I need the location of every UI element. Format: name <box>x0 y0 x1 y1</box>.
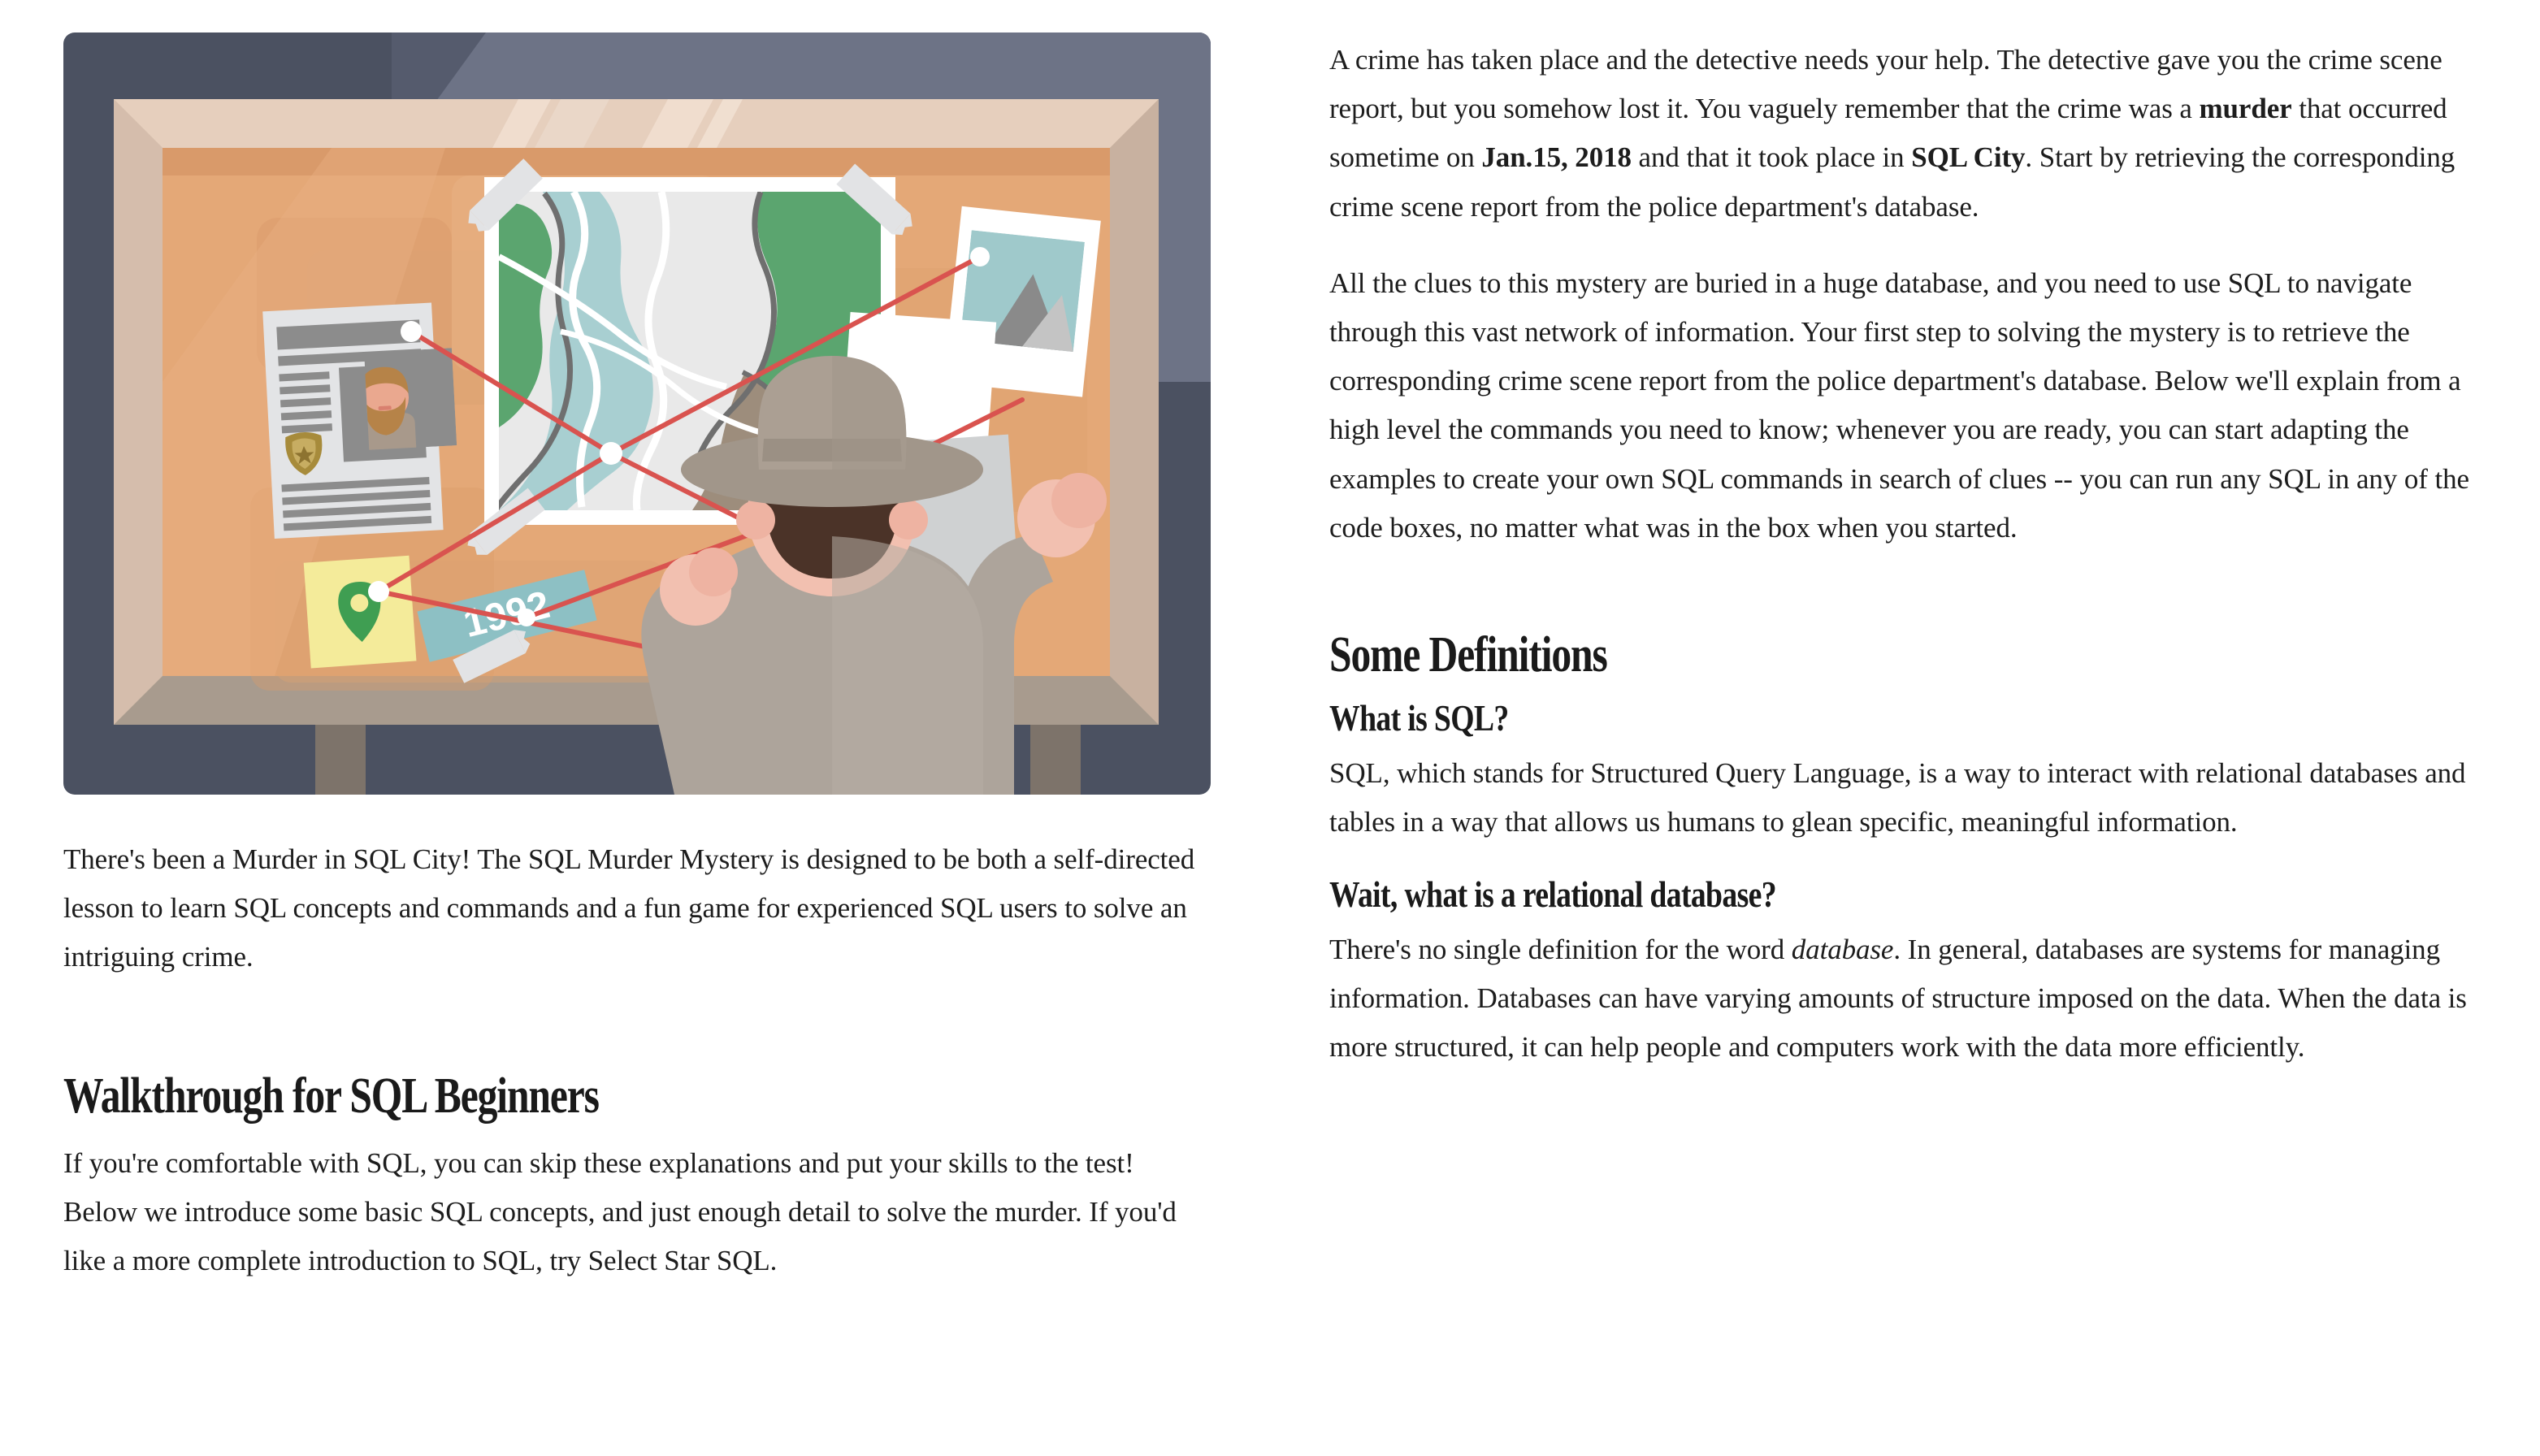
intro-paragraph: A crime has taken place and the detectiv… <box>1329 36 2475 232</box>
what-is-sql-paragraph: SQL, which stands for Structured Query L… <box>1329 749 2475 847</box>
walkthrough-heading: Walkthrough for SQL Beginners <box>63 1070 982 1123</box>
pin-map-center <box>600 442 622 465</box>
definitions-heading: Some Definitions <box>1329 629 2246 682</box>
intro-part-3: and that it took place in <box>1632 141 1911 173</box>
detective-ear-right <box>889 500 928 539</box>
newspaper-clipping <box>262 301 461 539</box>
frame-left-bevel <box>114 99 163 725</box>
cork-top-shadow <box>163 148 1110 175</box>
frame-right-bevel <box>1110 99 1159 725</box>
detective-thumb-left <box>689 548 738 596</box>
detective-ear-left <box>736 500 775 539</box>
illustration-caption: There's been a Murder in SQL City! The S… <box>63 835 1211 982</box>
spacer <box>63 982 1211 1070</box>
spacer <box>1329 580 2475 629</box>
relational-database-heading: Wait, what is a relational database? <box>1329 874 2269 916</box>
frame-top-bevel <box>114 99 1159 148</box>
intro-bold-murder: murder <box>2199 93 2291 124</box>
article-page: 1992 <box>0 0 2540 1456</box>
pin-photo <box>970 247 990 266</box>
intro-bold-city: SQL City <box>1911 141 2025 173</box>
walkthrough-paragraph: If you're comfortable with SQL, you can … <box>63 1139 1211 1286</box>
intro-bold-date: Jan.15, 2018 <box>1481 141 1632 173</box>
reldb-italic-database: database <box>1792 934 1894 965</box>
reldb-part-1: There's no single definition for the wor… <box>1329 934 1792 965</box>
sticky-note <box>304 556 417 669</box>
pin-newspaper <box>401 321 422 342</box>
pin-sticky-note <box>368 581 389 602</box>
pin-year-label <box>518 609 535 626</box>
detective-corkboard-illustration: 1992 <box>63 32 1211 795</box>
mugshot-mouth <box>379 405 392 410</box>
left-column: 1992 <box>63 32 1211 1313</box>
relational-database-paragraph: There's no single definition for the wor… <box>1329 925 2475 1072</box>
clues-paragraph: All the clues to this mystery are buried… <box>1329 259 2475 552</box>
corkboard-scene-svg: 1992 <box>63 32 1211 795</box>
detective-thumb-right <box>1051 473 1107 528</box>
right-column: A crime has taken place and the detectiv… <box>1329 36 2475 1099</box>
what-is-sql-heading: What is SQL? <box>1329 698 2269 739</box>
